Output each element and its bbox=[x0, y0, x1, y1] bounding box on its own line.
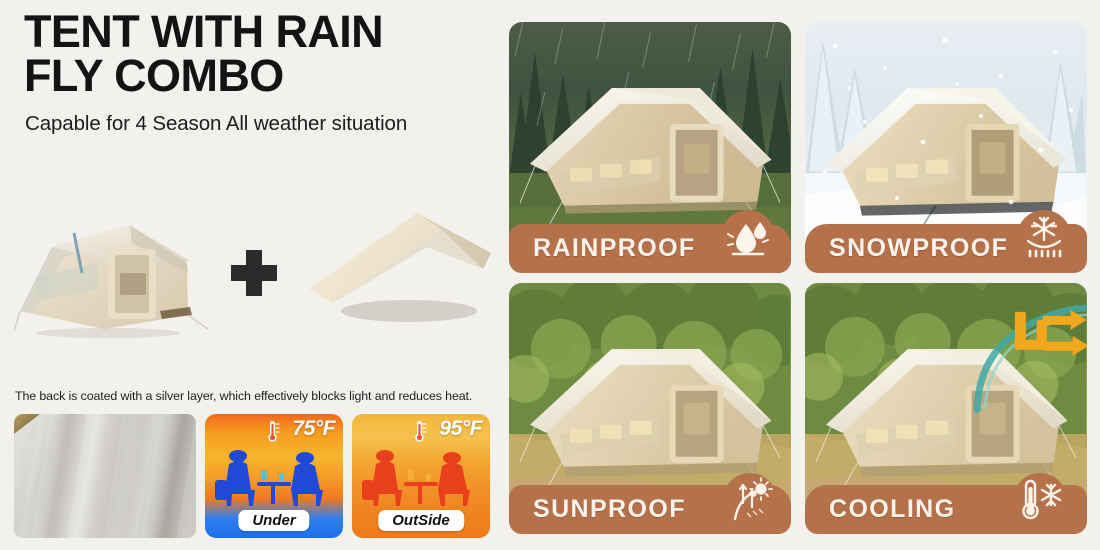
snowflake-icon bbox=[1017, 210, 1071, 264]
thermometer-icon bbox=[264, 419, 281, 443]
airflow-arrows-icon bbox=[959, 298, 1087, 413]
feature-panel-rainproof[interactable]: RAINPROOF bbox=[509, 22, 791, 273]
feature-label: RAINPROOF bbox=[533, 234, 696, 263]
thermal-panel-outside: 95°F OutSide bbox=[352, 414, 490, 538]
water-drop-icon bbox=[721, 210, 775, 264]
temperature-value: 95°F bbox=[439, 417, 482, 441]
thermal-label: Under bbox=[238, 510, 309, 531]
infographic-root: TENT WITH RAIN FLY COMBO Capable for 4 S… bbox=[0, 0, 1100, 550]
thermometer-icon bbox=[411, 419, 428, 443]
page-subtitle: Capable for 4 Season All weather situati… bbox=[25, 112, 407, 136]
plus-symbol bbox=[228, 247, 280, 299]
silver-layer-caption: The back is coated with a silver layer, … bbox=[15, 389, 472, 403]
feature-panel-grid: RAINPROOF bbox=[509, 22, 1087, 534]
feature-label: COOLING bbox=[829, 495, 955, 524]
page-title: TENT WITH RAIN FLY COMBO bbox=[24, 10, 484, 98]
feature-banner-snowproof: SNOWPROOF bbox=[805, 224, 1087, 273]
thermometer-snowflake-icon bbox=[1013, 473, 1067, 527]
thermal-panel-under: 75°F Under bbox=[205, 414, 343, 538]
feature-banner-rainproof: RAINPROOF bbox=[509, 224, 791, 273]
feature-panel-snowproof[interactable]: SNOWPROOF bbox=[805, 22, 1087, 273]
thermal-label: OutSide bbox=[378, 510, 464, 531]
temperature-value: 75°F bbox=[292, 417, 335, 441]
fabric-sheen bbox=[14, 414, 196, 538]
feature-label: SUNPROOF bbox=[533, 495, 686, 524]
feature-label: SNOWPROOF bbox=[829, 234, 1008, 263]
thermal-people-hot bbox=[352, 440, 490, 512]
silver-fabric-swatch bbox=[14, 414, 196, 538]
tent-product-image bbox=[12, 203, 217, 338]
feature-panel-sunproof[interactable]: SUNPROOF bbox=[509, 283, 791, 534]
left-column: TENT WITH RAIN FLY COMBO Capable for 4 S… bbox=[0, 0, 500, 550]
tent-illustration bbox=[520, 336, 779, 492]
tent-illustration bbox=[520, 75, 779, 231]
rainfly-product-image bbox=[305, 207, 495, 327]
feature-banner-cooling: COOLING bbox=[805, 485, 1087, 534]
feature-panel-cooling[interactable]: COOLING bbox=[805, 283, 1087, 534]
title-line-2: FLY COMBO bbox=[24, 54, 484, 98]
thermal-people-cool bbox=[205, 440, 343, 512]
sun-deflection-icon bbox=[723, 473, 777, 527]
feature-banner-sunproof: SUNPROOF bbox=[509, 485, 791, 534]
bottom-image-row: 75°F Under bbox=[0, 414, 500, 542]
combo-row bbox=[0, 185, 500, 360]
